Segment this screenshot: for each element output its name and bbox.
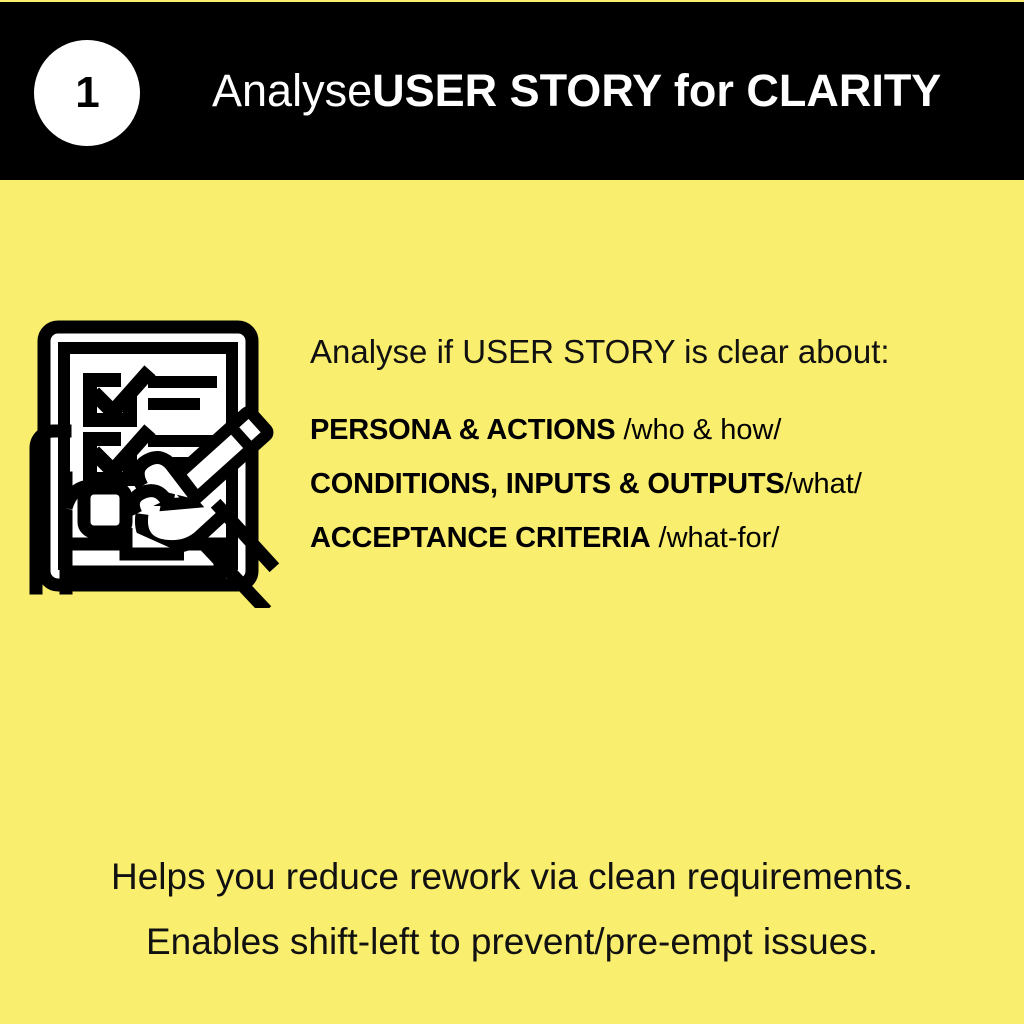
- page-title-bold: USER STORY for CLARITY: [372, 66, 941, 116]
- criteria-label: ACCEPTANCE CRITERIA: [310, 522, 650, 554]
- footer-line-2: Enables shift-left to prevent/pre-empt i…: [0, 923, 1024, 960]
- step-number-badge: 1: [34, 40, 140, 146]
- criteria-label: PERSONA & ACTIONS: [310, 414, 615, 446]
- footer-benefits: Helps you reduce rework via clean requir…: [0, 858, 1024, 960]
- footer-line-1: Helps you reduce rework via clean requir…: [0, 858, 1024, 895]
- criteria-item: ACCEPTANCE CRITERIA /what-for/: [310, 524, 1010, 553]
- criteria-item: CONDITIONS, INPUTS & OUTPUTS/what/: [310, 470, 1010, 499]
- intro-text: Analyse if USER STORY is clear about:: [310, 332, 1010, 372]
- main-content: Analyse if USER STORY is clear about: PE…: [310, 332, 1010, 553]
- step-number-text: 1: [75, 71, 98, 115]
- page-title: Analyse USER STORY for CLARITY: [212, 2, 941, 180]
- page-title-regular: Analyse: [212, 66, 372, 116]
- criteria-label: CONDITIONS, INPUTS & OUTPUTS: [310, 468, 785, 500]
- criteria-note: /what-for/: [650, 522, 779, 554]
- criteria-item: PERSONA & ACTIONS /who & how/: [310, 416, 1010, 445]
- infographic-card: 1 Analyse USER STORY for CLARITY: [0, 0, 1024, 1024]
- header-bar: 1 Analyse USER STORY for CLARITY: [0, 2, 1024, 180]
- criteria-note: /what/: [785, 468, 862, 500]
- clipboard-checklist-hand-pen-icon: [14, 318, 304, 608]
- criteria-note: /who & how/: [615, 414, 781, 446]
